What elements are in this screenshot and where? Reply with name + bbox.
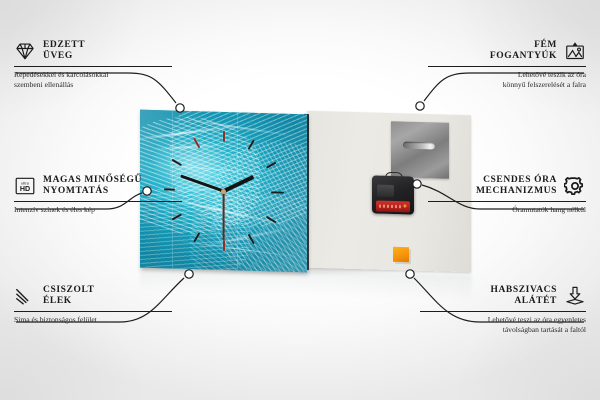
callout-tempered-glass[interactable]: EDZETTÜVEG Repedésekkel és karcolásokkal… bbox=[14, 40, 172, 89]
callout-subtitle: Óramutatók hang nélkül bbox=[428, 205, 586, 214]
callout-title: CSISZOLTÉLEK bbox=[43, 285, 94, 307]
foam-pad-arrow-icon bbox=[564, 285, 586, 307]
diamond-icon bbox=[14, 40, 36, 62]
callout-polished-edges[interactable]: CSISZOLTÉLEK Sima és biztonságos felület bbox=[14, 285, 172, 325]
clock-mechanism-part: + bbox=[372, 171, 414, 214]
gear-icon bbox=[564, 175, 586, 197]
callout-title: FÉMFOGANTYÚK bbox=[490, 40, 557, 62]
callout-silent-mechanism[interactable]: CSENDES ÓRAMECHANIZMUS Óramutatók hang n… bbox=[428, 175, 586, 215]
callout-subtitle: Sima és biztonságos felület bbox=[14, 315, 172, 324]
callout-header: ultra HD MAGAS MINŐSÉGŰNYOMTATÁS bbox=[14, 175, 182, 197]
callout-header: CSISZOLTÉLEK bbox=[14, 285, 172, 307]
hanging-picture-icon bbox=[564, 40, 586, 62]
callout-high-quality-print[interactable]: ultra HD MAGAS MINŐSÉGŰNYOMTATÁS Intenzí… bbox=[14, 175, 182, 215]
callout-title: HABSZIVACSALÁTÉT bbox=[490, 285, 557, 307]
battery-part: + bbox=[376, 201, 410, 213]
metal-hanger-part bbox=[391, 121, 449, 179]
callout-header: HABSZIVACSALÁTÉT bbox=[420, 285, 586, 307]
callout-divider bbox=[428, 66, 586, 67]
callout-divider bbox=[420, 311, 586, 312]
callout-divider bbox=[14, 201, 182, 202]
callout-foam-backing[interactable]: HABSZIVACSALÁTÉT Lehetővé teszi az óra e… bbox=[420, 285, 586, 334]
callout-divider bbox=[14, 311, 172, 312]
mechanism-body: + bbox=[372, 175, 414, 214]
mechanism-dial bbox=[377, 185, 394, 197]
hanger-slot bbox=[403, 142, 435, 150]
callout-divider bbox=[428, 201, 586, 202]
callout-divider bbox=[14, 66, 172, 67]
callout-subtitle: Lehetővé teszi az óra egyenletestávolság… bbox=[420, 315, 586, 334]
clock-center-cap bbox=[221, 188, 226, 193]
battery-plus-sign: + bbox=[403, 202, 407, 211]
callout-title: MAGAS MINŐSÉGŰNYOMTATÁS bbox=[43, 175, 142, 197]
callout-metal-handles[interactable]: FÉMFOGANTYÚK Lehetővé teszik az órakönny… bbox=[428, 40, 586, 89]
battery-label-stripes bbox=[379, 205, 401, 209]
callout-subtitle: Intenzív színek és éles kép bbox=[14, 205, 182, 214]
callout-header: CSENDES ÓRAMECHANIZMUS bbox=[428, 175, 586, 197]
ultra-hd-icon: ultra HD bbox=[14, 175, 36, 197]
callout-header: FÉMFOGANTYÚK bbox=[428, 40, 586, 62]
infographic-canvas: + bbox=[0, 0, 600, 400]
callout-title: EDZETTÜVEG bbox=[43, 40, 85, 62]
clock-second-hand bbox=[223, 191, 225, 240]
callout-header: EDZETTÜVEG bbox=[14, 40, 172, 62]
foam-pad-part bbox=[393, 247, 409, 262]
callout-subtitle: Repedésekkel és karcolásokkalszembeni el… bbox=[14, 70, 172, 89]
callout-subtitle: Lehetővé teszik az órakönnyű felszerelés… bbox=[428, 70, 586, 89]
diagonal-lines-icon bbox=[14, 285, 36, 307]
callout-title: CSENDES ÓRAMECHANIZMUS bbox=[476, 175, 557, 197]
svg-text:HD: HD bbox=[20, 185, 30, 193]
